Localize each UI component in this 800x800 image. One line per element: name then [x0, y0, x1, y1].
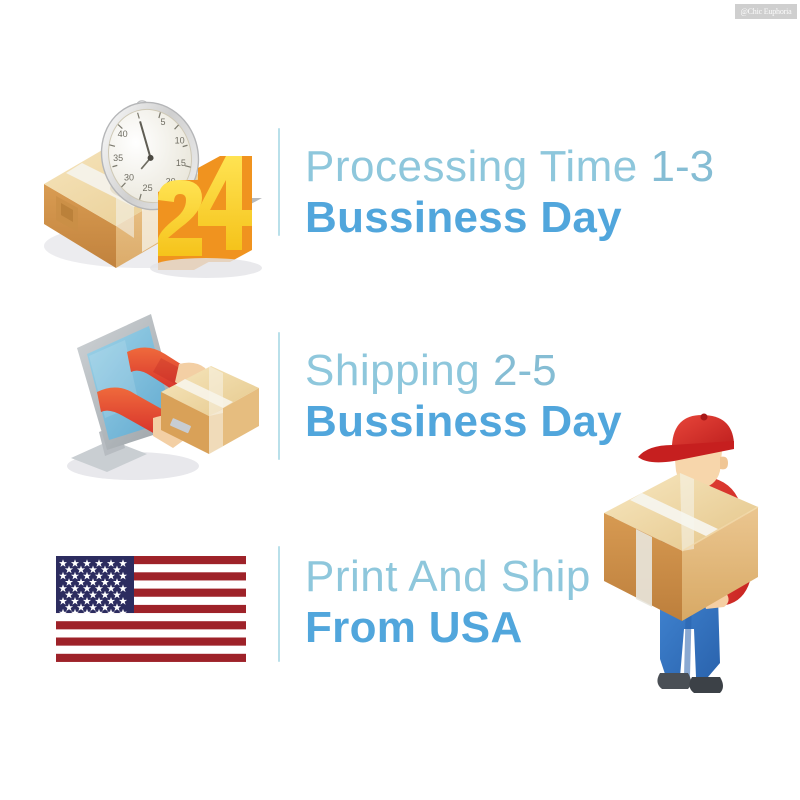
promo-banner: @Chic Euphoria [0, 0, 800, 800]
box-stopwatch-24-icon: 5 10 15 20 25 30 35 40 [30, 72, 270, 282]
monitor-hands-box-icon [55, 308, 270, 493]
feature-text-print-and-ship: Print And Ship From USA [305, 552, 591, 654]
divider-line-2 [278, 332, 280, 460]
svg-text:25: 25 [143, 183, 153, 193]
svg-text:10: 10 [175, 135, 185, 145]
feature-line-bottom-1: Bussiness Day [305, 192, 714, 244]
svg-text:40: 40 [118, 129, 128, 139]
usa-flag-icon [56, 556, 246, 662]
delivery-man-with-package-illustration [568, 415, 800, 715]
watermark-label: @Chic Euphoria [735, 4, 797, 19]
svg-text:5: 5 [161, 117, 166, 127]
divider-line-1 [278, 128, 280, 236]
feature-line-top-2: Shipping 2-5 [305, 346, 622, 396]
svg-text:35: 35 [113, 153, 123, 163]
feature-text-processing-time: Processing Time 1-3 Bussiness Day [305, 142, 714, 244]
feature-line-top-1: Processing Time 1-3 [305, 142, 714, 192]
svg-text:15: 15 [176, 158, 186, 168]
svg-text:30: 30 [124, 173, 134, 183]
feature-line-top-3: Print And Ship [305, 552, 591, 602]
feature-line-bottom-3: From USA [305, 602, 591, 654]
divider-line-3 [278, 546, 280, 662]
